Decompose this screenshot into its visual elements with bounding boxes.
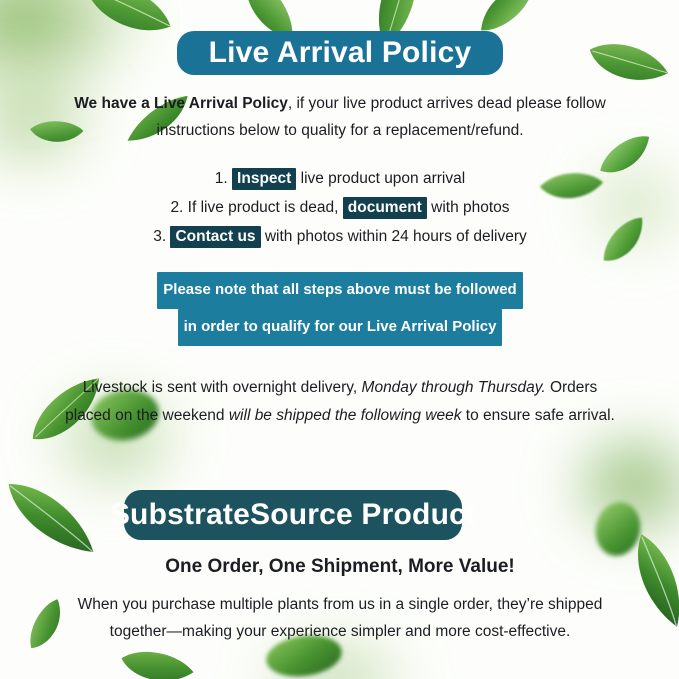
intro-bold-lead: We have a Live Arrival Policy (74, 95, 288, 112)
shipping-line1-plain: Livestock is sent with overnight deliver… (83, 379, 362, 396)
step-highlight-document: document (343, 197, 427, 219)
step-after-text: live product upon arrival (296, 170, 465, 187)
value-proposition-heading: One Order, One Shipment, More Value! (60, 556, 620, 578)
live-arrival-policy-infographic: Live Arrival Policy We have a Live Arriv… (0, 0, 679, 679)
substratesource-product-banner: SubstrateSource Product (124, 490, 462, 540)
shipping-line2-italic: will be shipped the following week (229, 407, 462, 424)
shipping-line1-italic: Monday through Thursday. (362, 379, 546, 396)
step-number: 2. (170, 199, 183, 216)
shipping-line3-plain: to ensure safe arrival. (462, 407, 615, 424)
intro-paragraph: We have a Live Arrival Policy, if your l… (60, 90, 620, 144)
step-number: 3. (153, 228, 166, 245)
note-line-2: in order to qualify for our Live Arrival… (178, 309, 503, 346)
content-layer: Live Arrival Policy We have a Live Arriv… (0, 0, 679, 679)
step-number: 1. (215, 170, 228, 187)
step-after-text: with photos (427, 199, 510, 216)
step-highlight-inspect: Inspect (232, 168, 296, 190)
policy-note-block: Please note that all steps above must be… (60, 272, 620, 346)
live-arrival-policy-banner: Live Arrival Policy (177, 31, 503, 75)
note-line-1: Please note that all steps above must be… (157, 272, 522, 309)
policy-steps-list: 1. Inspect live product upon arrival 2. … (60, 164, 620, 251)
note-row: Please note that all steps above must be… (60, 272, 620, 309)
list-item: 2. If live product is dead, document wit… (60, 193, 620, 222)
value-proposition-paragraph: When you purchase multiple plants from u… (60, 591, 620, 645)
list-item: 1. Inspect live product upon arrival (60, 164, 620, 193)
note-row: in order to qualify for our Live Arrival… (60, 309, 620, 346)
list-item: 3. Contact us with photos within 24 hour… (60, 222, 620, 251)
step-before-text: If live product is dead, (183, 199, 342, 216)
shipping-schedule-paragraph: Livestock is sent with overnight deliver… (60, 374, 620, 430)
step-highlight-contact-us: Contact us (170, 226, 260, 248)
step-after-text: with photos within 24 hours of delivery (261, 228, 527, 245)
